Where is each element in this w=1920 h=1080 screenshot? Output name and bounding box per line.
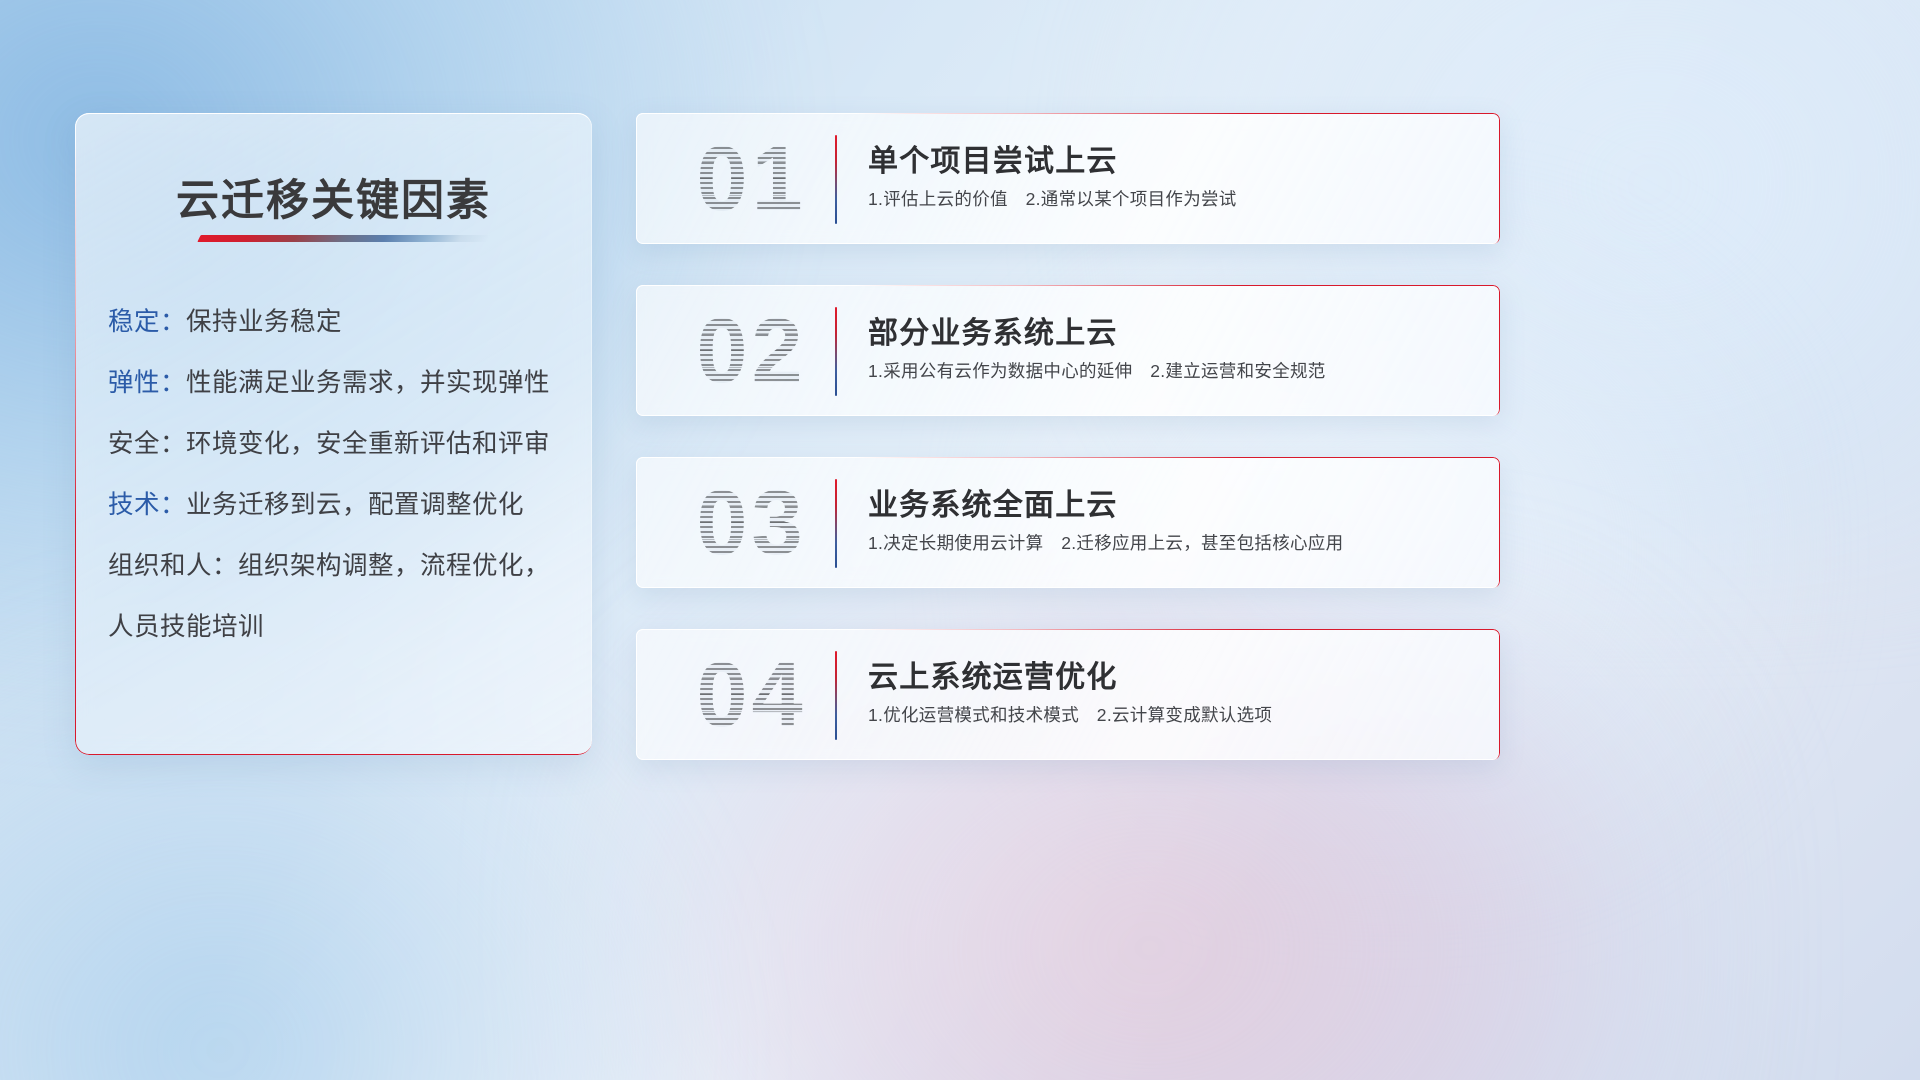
card-description: 1.评估上云的价值 2.通常以某个项目作为尝试 bbox=[868, 186, 1237, 211]
list-item-label: 稳定： bbox=[108, 301, 186, 338]
key-factors-list: 稳定： 保持业务稳定 弹性： 性能满足业务需求，并实现弹性 安全： 环境变化，安… bbox=[75, 301, 592, 667]
list-item: 人员技能培训 bbox=[75, 606, 592, 667]
card-title: 部分业务系统上云 bbox=[868, 308, 1118, 352]
card-description: 1.决定长期使用云计算 2.迁移应用上云，甚至包括核心应用 bbox=[868, 530, 1343, 555]
card-title: 业务系统全面上云 bbox=[868, 480, 1118, 524]
stage-number-tint: 04 bbox=[664, 643, 839, 748]
page-title: 云迁移关键因素 bbox=[75, 166, 592, 228]
title-gradient-rule bbox=[197, 235, 490, 242]
card-title: 单个项目尝试上云 bbox=[868, 136, 1118, 180]
list-item-text: 环境变化，安全重新评估和评审 bbox=[186, 423, 550, 460]
list-item-label: 安全： bbox=[108, 423, 186, 460]
stage-number-tint: 03 bbox=[664, 471, 839, 576]
list-item-label: 弹性： bbox=[108, 362, 186, 399]
stage-card-01[interactable]: 01 01 01 单个项目尝试上云 1.评估上云的价值 2.通常以某个项目作为尝… bbox=[636, 113, 1500, 244]
list-item-label: 技术： bbox=[108, 484, 186, 521]
key-factors-panel: 云迁移关键因素 稳定： 保持业务稳定 弹性： 性能满足业务需求，并实现弹性 安全… bbox=[75, 113, 592, 755]
stage-number-tint: 02 bbox=[664, 299, 839, 404]
list-item-text: 性能满足业务需求，并实现弹性 bbox=[186, 362, 550, 399]
stage-card-04[interactable]: 04 04 04 云上系统运营优化 1.优化运营模式和技术模式 2.云计算变成默… bbox=[636, 629, 1500, 760]
card-title: 云上系统运营优化 bbox=[868, 652, 1118, 696]
list-item: 弹性： 性能满足业务需求，并实现弹性 bbox=[75, 362, 592, 423]
stage-number-tint: 01 bbox=[664, 127, 839, 232]
list-item: 稳定： 保持业务稳定 bbox=[75, 301, 592, 362]
list-item: 技术： 业务迁移到云，配置调整优化 bbox=[75, 484, 592, 545]
list-item-text: 人员技能培训 bbox=[108, 606, 264, 643]
list-item: 组织和人： 组织架构调整，流程优化， bbox=[75, 545, 592, 606]
list-item-text: 组织架构调整，流程优化， bbox=[238, 545, 550, 582]
stage-card-02[interactable]: 02 02 02 部分业务系统上云 1.采用公有云作为数据中心的延伸 2.建立运… bbox=[636, 285, 1500, 416]
list-item-label: 组织和人： bbox=[108, 545, 238, 582]
list-item-text: 业务迁移到云，配置调整优化 bbox=[186, 484, 524, 521]
card-description: 1.优化运营模式和技术模式 2.云计算变成默认选项 bbox=[868, 702, 1272, 727]
list-item: 安全： 环境变化，安全重新评估和评审 bbox=[75, 423, 592, 484]
card-description: 1.采用公有云作为数据中心的延伸 2.建立运营和安全规范 bbox=[868, 358, 1326, 383]
stage-card-03[interactable]: 03 03 03 业务系统全面上云 1.决定长期使用云计算 2.迁移应用上云，甚… bbox=[636, 457, 1500, 588]
list-item-text: 保持业务稳定 bbox=[186, 301, 342, 338]
